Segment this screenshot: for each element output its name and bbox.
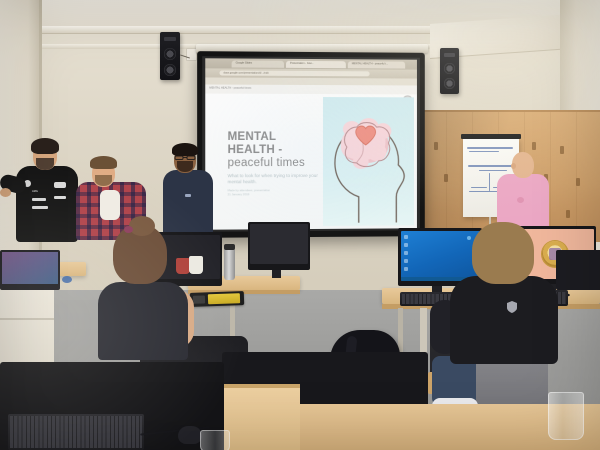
tshirt-logo (185, 194, 191, 197)
beard (95, 175, 112, 186)
white-cup[interactable] (189, 256, 203, 274)
classroom-photo: Google Slides Presentation - Goo... MENT… (0, 0, 600, 450)
navy-tshirt (163, 170, 213, 236)
projection-screen[interactable]: Google Slides Presentation - Goo... MENT… (197, 51, 425, 238)
monitor-logo (62, 276, 72, 283)
keyboard-keys (10, 416, 142, 448)
browser-tab-label: Presentation - Goo... (290, 62, 314, 65)
slide-title-line3: peaceful times (228, 157, 328, 170)
drinking-glass[interactable] (200, 430, 230, 450)
white-tshirt-under (100, 190, 120, 220)
desktop-icon[interactable] (404, 259, 408, 263)
dark-top (98, 282, 188, 360)
laptop-screen (2, 252, 58, 284)
heart-icon (354, 125, 378, 147)
drinking-glass[interactable] (548, 392, 584, 440)
monitor-stand (272, 270, 281, 278)
shirt-crest-icon (505, 300, 519, 314)
flipchart-line (469, 151, 499, 152)
hand (0, 188, 11, 197)
polo-stripe (54, 196, 66, 199)
flipchart-line (468, 165, 512, 167)
hair (31, 138, 59, 154)
polo-sponsor-text: AMG (32, 190, 38, 193)
hair (90, 156, 117, 169)
flipchart-line (471, 187, 487, 188)
slide-canvas[interactable]: MENTAL HEALTH - peaceful times MENTAL HE… (205, 84, 417, 229)
slide-title-line2: HEALTH - (228, 144, 328, 157)
slide-byline-line2: 21 January 2019 (228, 192, 318, 196)
speaker-driver (164, 64, 176, 76)
laptop-left[interactable] (0, 250, 60, 290)
monitor-screen (250, 224, 308, 264)
tshirt-logo (517, 197, 524, 203)
black-tshirt (450, 276, 558, 364)
flipchart-line (479, 170, 507, 171)
control-button-panel[interactable] (193, 295, 205, 303)
browser-tab-label: MENTAL HEALTH - peaceful t... (352, 62, 388, 65)
desktop-icon[interactable] (404, 235, 408, 239)
computer-mouse[interactable] (178, 426, 202, 444)
speaker-port (164, 37, 176, 41)
beard (177, 161, 193, 172)
slide-title: MENTAL HEALTH - peaceful times (228, 131, 328, 171)
brain-heart-illustration (323, 97, 414, 226)
speaker-driver (444, 63, 455, 74)
water-bottle[interactable] (224, 248, 235, 280)
speaker-port (444, 53, 455, 57)
polo-stripe (32, 198, 46, 201)
monitor-off-mid[interactable] (248, 222, 310, 270)
red-cup[interactable] (176, 258, 190, 274)
slide-subtitle: What to look for when trying to improve … (228, 173, 318, 185)
wall-speaker-left (160, 32, 180, 80)
flipchart-line (467, 147, 513, 149)
desktop-icon[interactable] (404, 251, 408, 255)
flipchart-line (489, 173, 490, 191)
speaker-driver (164, 48, 176, 60)
hair (472, 222, 534, 284)
laptop-right[interactable] (556, 250, 600, 290)
bottle-cap[interactable] (224, 244, 235, 250)
control-yellow-panel[interactable] (208, 293, 240, 304)
yellow-black-control-device[interactable] (190, 291, 244, 307)
wall-speaker-right (440, 48, 459, 94)
beard (36, 158, 54, 170)
document-title: MENTAL HEALTH - peaceful times (209, 87, 251, 90)
desktop-icon[interactable] (404, 267, 408, 271)
slide-byline: Made by attendees, presentation 21 Janua… (228, 188, 318, 196)
polo-stripe (32, 206, 48, 209)
url-text: docs.google.com/presentation/d/.../edit (224, 71, 269, 74)
desktop-widget (467, 236, 471, 240)
ear (511, 163, 516, 169)
desktop-icon[interactable] (404, 243, 408, 247)
polo-badge (54, 182, 66, 188)
speaker-driver (444, 78, 455, 89)
hair-tie (124, 226, 133, 233)
cabinet-seam (0, 318, 54, 320)
hair (172, 143, 198, 156)
browser-window[interactable]: Google Slides Presentation - Goo... MENT… (205, 58, 417, 229)
slide-title-line1: MENTAL (228, 131, 328, 144)
keyboard[interactable] (8, 414, 144, 450)
black-team-polo: AMG (16, 166, 78, 242)
monitor-screen-windows-desktop (401, 231, 480, 281)
browser-tab-label: Google Slides (236, 61, 252, 64)
hair-bun (129, 216, 155, 236)
